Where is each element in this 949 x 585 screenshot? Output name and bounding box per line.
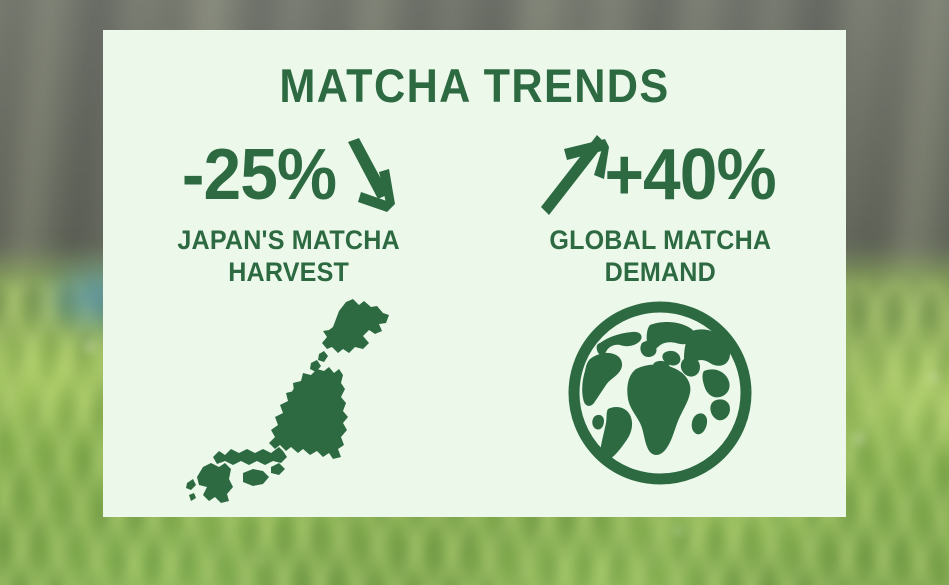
stat-global-demand: +40% GLOBAL MATCHA DEMAND <box>475 137 847 289</box>
stat-value-row-right: +40% <box>539 137 781 213</box>
stat-japan-harvest: -25% JAPAN'S MATCHA HARVEST <box>103 137 475 289</box>
stat-label-line1: JAPAN'S MATCHA <box>177 225 399 255</box>
stat-label-global-demand: GLOBAL MATCHA DEMAND <box>549 225 771 289</box>
arrow-down-right-icon <box>345 138 401 212</box>
graphic-col-globe <box>475 297 847 503</box>
stat-label-line1: GLOBAL MATCHA <box>549 225 771 255</box>
stat-value-increase: +40% <box>605 139 776 211</box>
globe-icon <box>564 297 756 489</box>
japan-map-icon <box>183 297 395 503</box>
page-title: MATCHA TRENDS <box>133 62 817 109</box>
stat-value-decrease: -25% <box>182 139 336 211</box>
stat-label-line2: DEMAND <box>605 257 716 287</box>
stat-value-row-left: -25% <box>177 137 401 213</box>
infographic-stage: MATCHA TRENDS -25% <box>0 0 949 585</box>
graphic-col-japan <box>103 297 475 503</box>
arrow-up-right-icon <box>539 135 609 215</box>
stats-row: -25% JAPAN'S MATCHA HARVEST <box>103 137 846 289</box>
graphic-row <box>103 297 846 503</box>
infographic-card: MATCHA TRENDS -25% <box>103 30 846 517</box>
stat-label-line2: HARVEST <box>228 257 349 287</box>
stat-label-japan-harvest: JAPAN'S MATCHA HARVEST <box>177 225 399 289</box>
